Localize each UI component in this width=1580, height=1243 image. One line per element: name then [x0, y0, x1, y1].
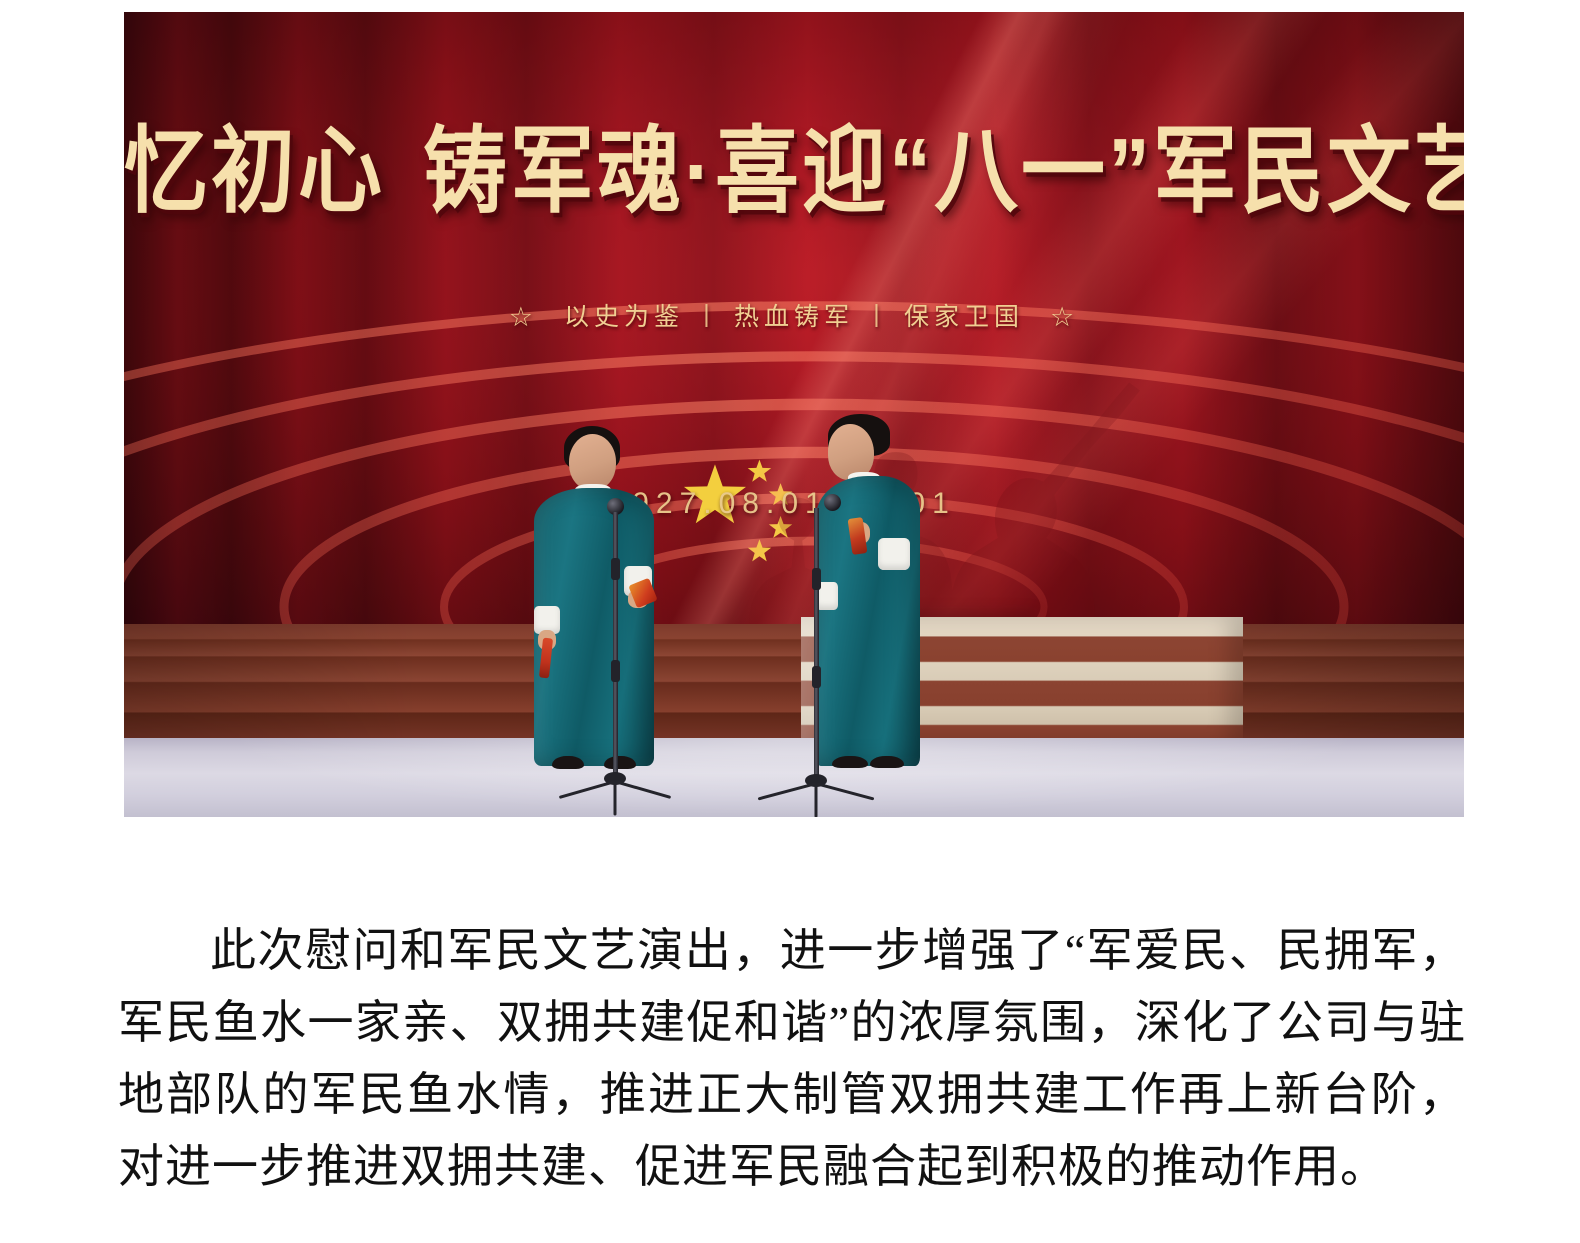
event-date-range: 927.08.01-20 01 — [124, 487, 1464, 521]
mic-tripod-leg-right-3 — [815, 784, 818, 818]
star-right-icon: ☆ — [1050, 302, 1079, 333]
stage-performance-photo: 忆初心铸军魂·喜迎“八一”军民文艺汇演 ☆以史为鉴丨热血铸军丨保家卫国☆ 927… — [124, 12, 1464, 817]
performer-left-shoe-left — [604, 756, 636, 769]
mic-pole-left — [613, 512, 618, 778]
performer-left — [528, 426, 658, 766]
headline-part-1: 忆初心 — [124, 118, 385, 223]
performer-right — [804, 414, 924, 766]
performer-right-shoe-back — [832, 756, 868, 768]
subtitle-item-0: 以史为鉴 — [564, 303, 684, 331]
event-subtitle: ☆以史为鉴丨热血铸军丨保家卫国☆ — [124, 297, 1464, 333]
subtitle-separator-0: 丨 — [694, 303, 724, 331]
article-paragraph: 此次慰问和军民文艺演出，进一步增强了“军爱民、民拥军，军民鱼水一家亲、双拥共建促… — [118, 915, 1466, 1203]
performer-left-shoe-right — [552, 756, 584, 769]
performer-left-head — [569, 434, 616, 490]
performer-right-shoe-front — [870, 756, 904, 768]
subtitle-item-2: 保家卫国 — [904, 303, 1024, 331]
mic-clip-right — [812, 568, 821, 590]
mic-head-right-icon — [824, 494, 841, 511]
stage-floor — [124, 738, 1464, 817]
mic-clip-left — [611, 558, 620, 580]
star-left-icon: ☆ — [509, 302, 538, 333]
mic-pole-right — [814, 508, 819, 780]
wooden-stage-platform — [124, 624, 1464, 746]
performer-right-robe — [816, 476, 920, 766]
mic-collar-right — [812, 666, 821, 688]
mic-tripod-leg-left-3 — [614, 782, 617, 816]
headline-part-2: 铸军魂·喜迎“八一”军民文艺汇演 — [423, 118, 1464, 223]
performer-right-cuff-right — [878, 538, 910, 570]
subtitle-separator-1: 丨 — [864, 303, 894, 331]
subtitle-item-1: 热血铸军 — [734, 303, 854, 331]
event-headline: 忆初心铸军魂·喜迎“八一”军民文艺汇演 — [124, 124, 1464, 218]
mic-collar-left — [611, 660, 620, 682]
